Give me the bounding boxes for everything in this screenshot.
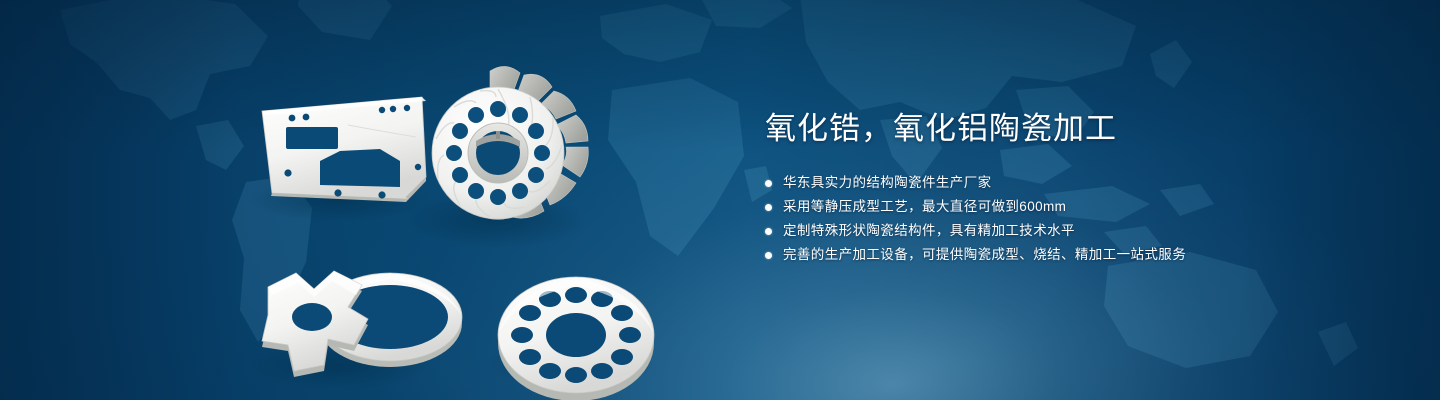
ceramic-impeller-part: [432, 66, 588, 219]
feature-list: 华东具实力的结构陶瓷件生产厂家 采用等静压成型工艺，最大直径可做到600mm 定…: [765, 172, 1385, 266]
list-item: 完善的生产加工设备，可提供陶瓷成型、烧结、精加工一站式服务: [765, 244, 1385, 266]
ceramic-products-image: [230, 45, 710, 385]
promo-banner: 氧化锆，氧化铝陶瓷加工 华东具实力的结构陶瓷件生产厂家 采用等静压成型工艺，最大…: [0, 0, 1440, 400]
feature-text: 华东具实力的结构陶瓷件生产厂家: [783, 172, 992, 194]
feature-text: 完善的生产加工设备，可提供陶瓷成型、烧结、精加工一站式服务: [783, 244, 1186, 266]
ceramic-plate-part: [262, 97, 426, 202]
bullet-dot-icon: [765, 204, 772, 211]
feature-text: 采用等静压成型工艺，最大直径可做到600mm: [783, 196, 1066, 218]
banner-copy: 氧化锆，氧化铝陶瓷加工 华东具实力的结构陶瓷件生产厂家 采用等静压成型工艺，最大…: [765, 108, 1385, 266]
list-item: 定制特殊形状陶瓷结构件，具有精加工技术水平: [765, 220, 1385, 242]
page-title: 氧化锆，氧化铝陶瓷加工: [765, 108, 1385, 150]
list-item: 采用等静压成型工艺，最大直径可做到600mm: [765, 196, 1385, 218]
bullet-dot-icon: [765, 228, 772, 235]
ceramic-perforated-disc-part: [498, 277, 654, 400]
feature-text: 定制特殊形状陶瓷结构件，具有精加工技术水平: [783, 220, 1075, 242]
bullet-dot-icon: [765, 180, 772, 187]
bullet-dot-icon: [765, 252, 772, 259]
list-item: 华东具实力的结构陶瓷件生产厂家: [765, 172, 1385, 194]
